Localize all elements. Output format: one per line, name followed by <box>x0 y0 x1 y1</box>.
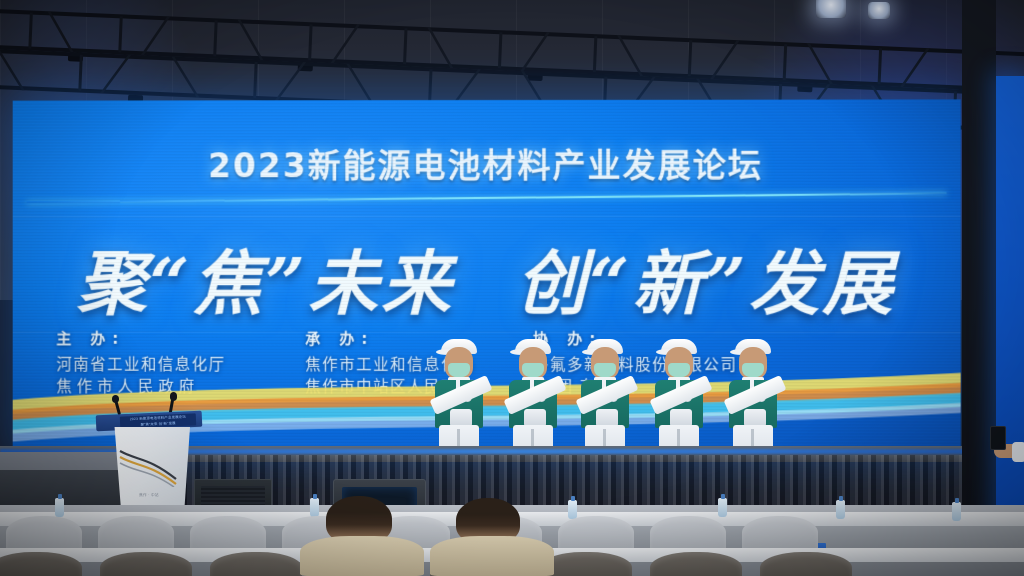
slogan-left: 聚“焦”未来 <box>77 228 454 329</box>
chair <box>210 552 302 576</box>
chair <box>650 516 726 552</box>
staff-member <box>652 333 706 455</box>
chair <box>650 552 742 576</box>
foreground-attendee-left <box>300 496 424 576</box>
staff-member <box>578 333 632 455</box>
spotlight-fixture <box>816 0 846 18</box>
chair <box>100 552 192 576</box>
face-mask-icon <box>742 363 764 377</box>
microphone-head-right <box>170 392 177 401</box>
spotlight-fixture-2 <box>868 2 890 19</box>
microphone-head-left <box>112 395 119 403</box>
staff-member <box>726 333 780 455</box>
attendee-shirt <box>430 536 554 576</box>
staff-member <box>506 333 560 455</box>
chair <box>742 516 818 552</box>
attendee-holding-phone <box>990 418 1024 478</box>
title-divider-line <box>27 192 947 203</box>
chair <box>98 516 174 552</box>
water-bottle <box>55 498 64 517</box>
water-bottle <box>718 498 727 517</box>
chair <box>190 516 266 552</box>
smartphone-icon <box>990 426 1006 450</box>
staff-member <box>432 333 486 455</box>
face-mask-icon <box>594 363 616 377</box>
forum-slogan: 聚“焦”未来 创“新”发展 <box>13 228 961 329</box>
face-mask-icon <box>522 363 544 377</box>
chair <box>760 552 852 576</box>
speaker-podium: 2023 新能源电池材料产业发展论坛 聚“焦”未来 创“新”发展 焦作 · 中站 <box>96 413 202 511</box>
attendee-shirt <box>300 536 424 576</box>
chair <box>6 516 82 552</box>
chair <box>558 516 634 552</box>
podium-swoosh-graphic <box>118 447 180 487</box>
slogan-right: 创“新”发展 <box>516 228 896 329</box>
face-mask-icon <box>668 363 690 377</box>
podium-foot-label: 焦作 · 中站 <box>124 493 174 498</box>
face-mask-icon <box>448 363 470 377</box>
credit-head-host: 主 办: <box>56 328 305 349</box>
chair <box>0 552 82 576</box>
forum-title: 2023新能源电池材料产业发展论坛 <box>13 139 961 188</box>
foreground-attendee-right <box>430 498 554 576</box>
credit-head-organizer: 承 办: <box>305 328 533 349</box>
led-backdrop-screen: 2023新能源电池材料产业发展论坛 聚“焦”未来 创“新”发展 主 办: 河南省… <box>13 99 961 452</box>
conference-stage-scene: 2023新能源电池材料产业发展论坛 聚“焦”未来 创“新”发展 主 办: 河南省… <box>0 0 1024 576</box>
